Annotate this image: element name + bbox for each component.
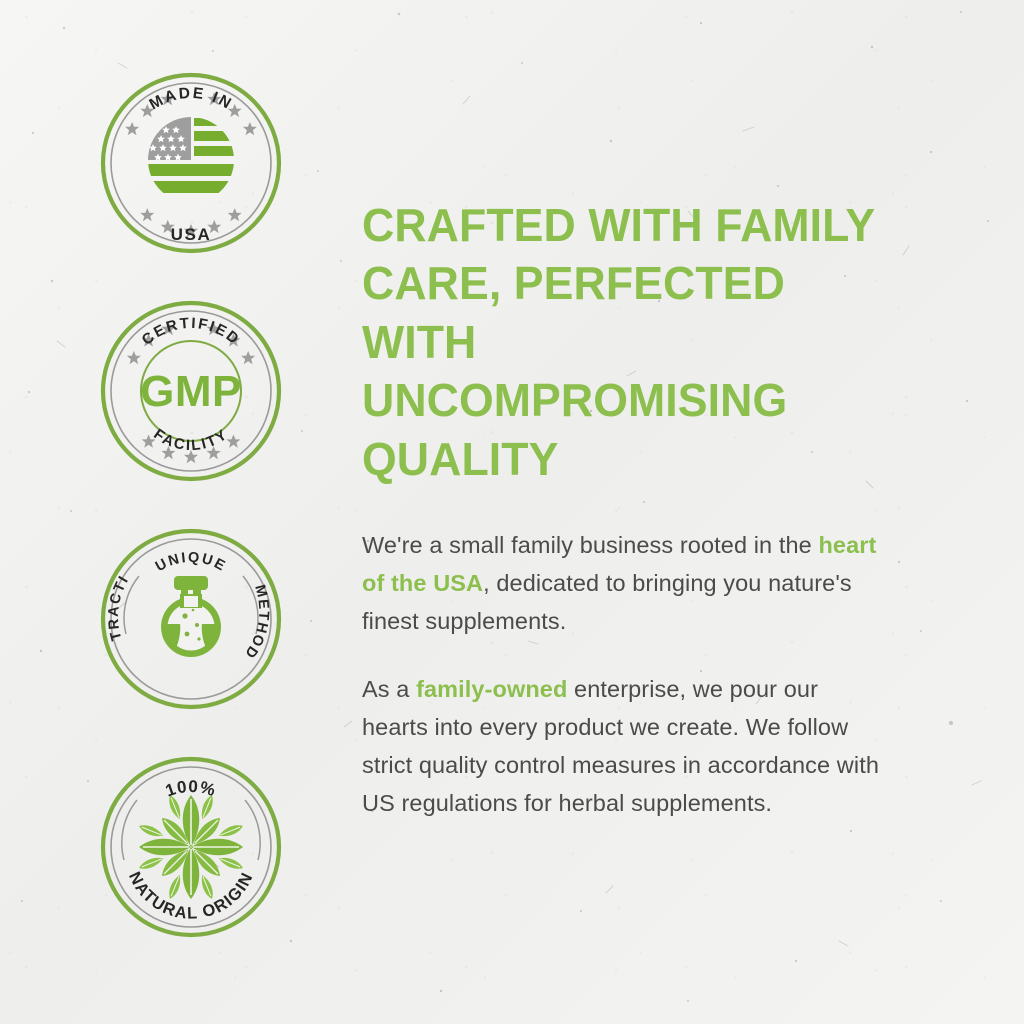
headline-line-1: CRAFTED WITH FAMILY xyxy=(362,199,875,251)
badge-top-label: UNIQUE xyxy=(153,550,229,575)
badge-gmp-certified-facility: GMP CERTIFIED FACILITY xyxy=(96,296,286,486)
badge-star-ring xyxy=(119,88,262,238)
badge-right-label: METHOD xyxy=(241,583,272,662)
para2-text-a: As a xyxy=(362,676,416,702)
badge-inner-ring xyxy=(111,83,271,243)
flask-leaf-icon xyxy=(161,576,221,657)
badge-natural-origin: 100% NATURAL ORIGIN xyxy=(96,752,286,942)
gmp-text-icon: GMP xyxy=(140,367,242,416)
para2-highlight: family-owned xyxy=(416,676,567,702)
badge-made-in-usa: MADE IN USA xyxy=(96,68,286,258)
badge-unique-extraction-method: UNIQUE EXTRACTION METHOD xyxy=(96,524,286,714)
headline-line-4: QUALITY xyxy=(362,433,559,485)
para1-text-a: We're a small family business rooted in … xyxy=(362,532,818,558)
headline-line-2: CARE, PERFECTED WITH xyxy=(362,257,785,367)
trust-badge-column: MADE IN USA xyxy=(96,68,288,980)
headline-line-3: UNCOMPROMISING xyxy=(362,374,787,426)
badge-bottom-label: FACILITY xyxy=(150,426,231,455)
usa-flag-circle-icon xyxy=(146,117,241,193)
body-paragraph-2: As a family-owned enterprise, we pour ou… xyxy=(362,670,882,822)
badge-bottom-label: USA xyxy=(171,225,212,244)
page-title: CRAFTED WITH FAMILYCARE, PERFECTED WITHU… xyxy=(362,196,900,488)
marketing-copy-column: CRAFTED WITH FAMILYCARE, PERFECTED WITHU… xyxy=(362,196,922,822)
leaf-rosette-icon xyxy=(138,794,245,901)
body-paragraph-1: We're a small family business rooted in … xyxy=(362,526,882,640)
